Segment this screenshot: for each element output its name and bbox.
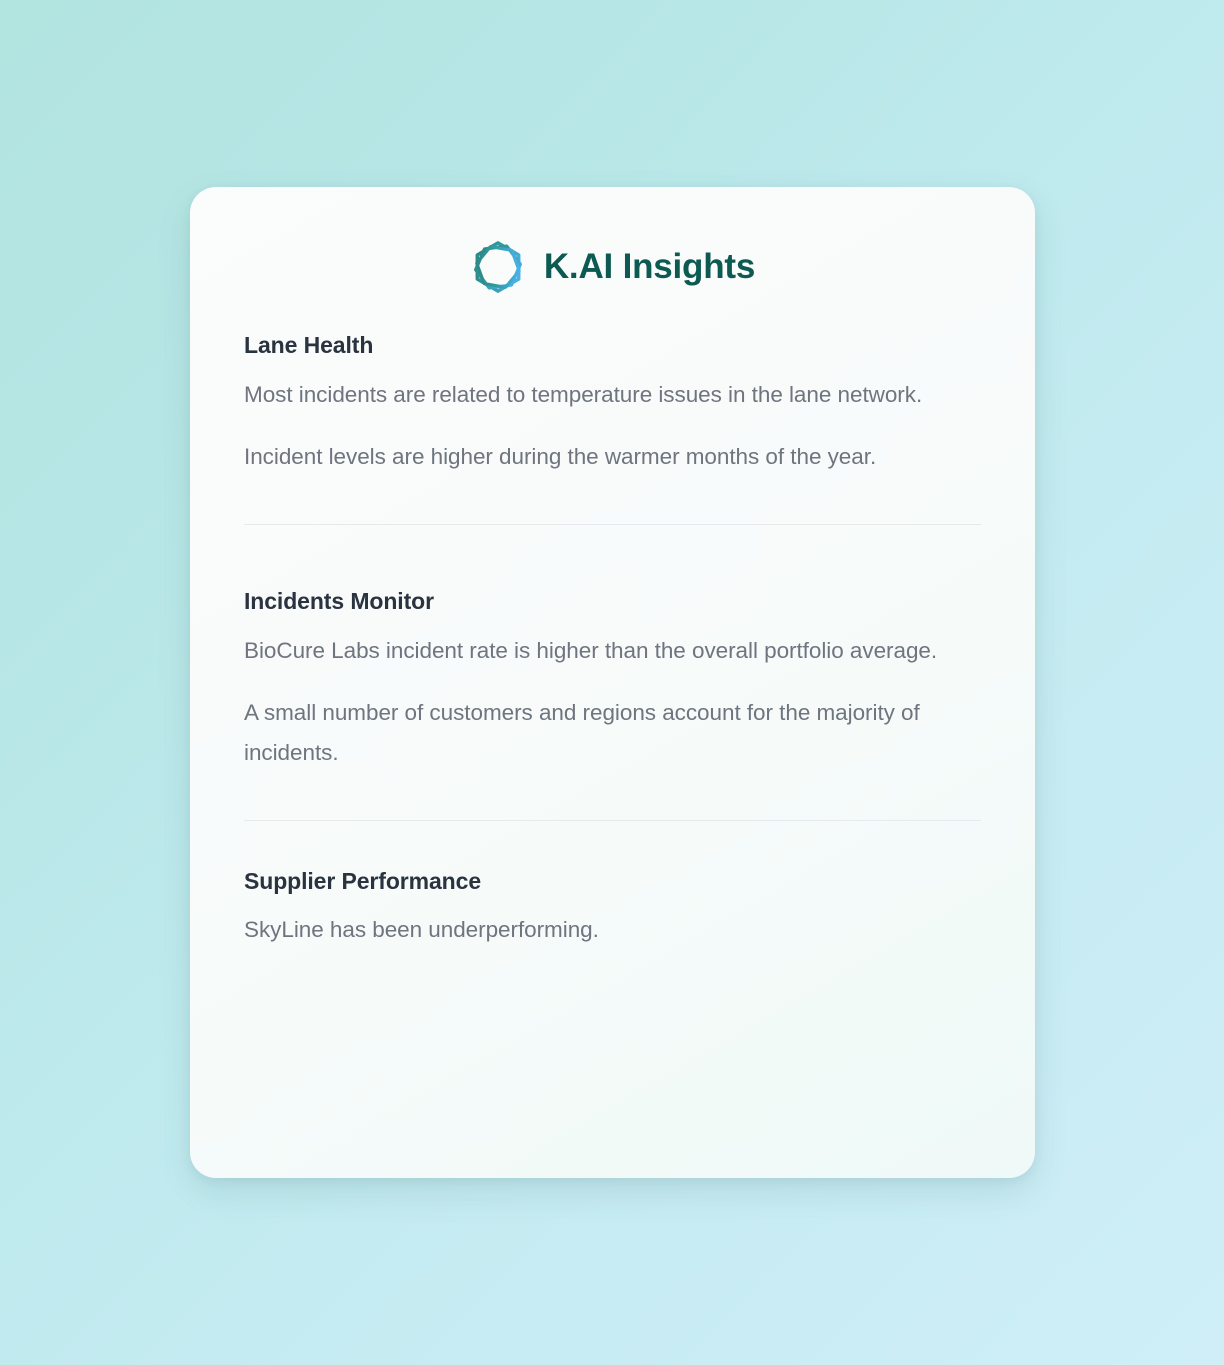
card-header: K.AI Insights [190,187,1035,315]
hexagon-gem-logo-icon [470,239,526,295]
insights-card: K.AI Insights Lane Health Most incidents… [190,187,1035,1178]
section-divider [244,820,981,821]
section-heading: Incidents Monitor [244,587,981,616]
section-paragraph: Incident levels are higher during the wa… [244,437,974,477]
section-paragraph: A small number of customers and regions … [244,693,974,773]
insight-section-supplier-performance: Supplier Performance SkyLine has been un… [244,867,981,951]
insight-section-lane-health: Lane Health Most incidents are related t… [244,315,981,477]
section-heading: Lane Health [244,331,981,360]
section-paragraph: Most incidents are related to temperatur… [244,375,974,415]
section-paragraph: BioCure Labs incident rate is higher tha… [244,631,974,671]
insight-section-incidents-monitor: Incidents Monitor BioCure Labs incident … [244,571,981,773]
page-title: K.AI Insights [544,249,755,284]
insights-list: Lane Health Most incidents are related t… [190,315,1035,951]
section-divider [244,524,981,525]
section-paragraph: SkyLine has been underperforming. [244,910,974,950]
section-heading: Supplier Performance [244,867,981,896]
